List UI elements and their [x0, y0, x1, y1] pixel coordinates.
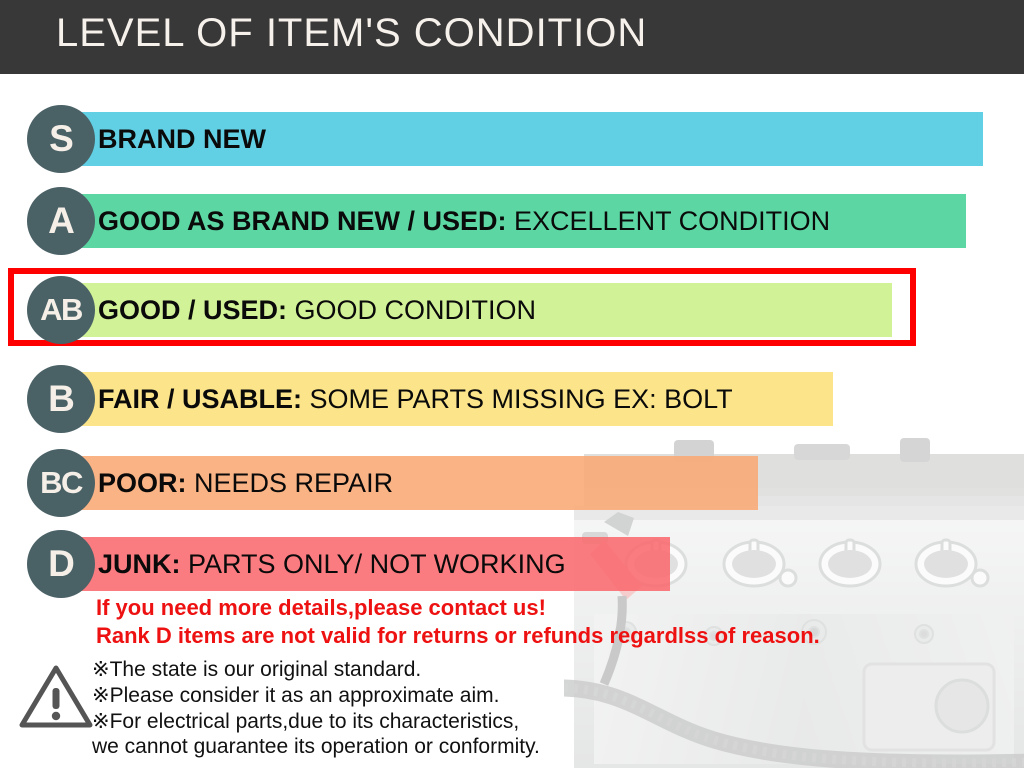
rank-badge-s: S	[27, 105, 95, 173]
rank-badge-a: A	[27, 187, 95, 255]
rank-strong-d: JUNK:	[98, 549, 181, 579]
rank-badge-d: D	[27, 530, 95, 598]
rank-text-bc: POOR: NEEDS REPAIR	[98, 456, 393, 510]
rank-light-ab: GOOD CONDITION	[287, 295, 536, 325]
note-original-standard: ※The state is our original standard.	[92, 657, 421, 682]
note-approximate-aim: ※Please consider it as an approximate ai…	[92, 683, 499, 708]
rank-text-ab: GOOD / USED: GOOD CONDITION	[98, 283, 536, 337]
rank-light-bc: NEEDS REPAIR	[187, 468, 394, 498]
condition-level-infographic: LEVEL OF ITEM'S CONDITION S BRAND NEW A …	[0, 0, 1024, 768]
note-electrical-parts: ※For electrical parts,due to its charact…	[92, 709, 519, 734]
rank-strong-s: BRAND NEW	[98, 124, 266, 154]
rank-strong-bc: POOR:	[98, 468, 187, 498]
rank-strong-ab: GOOD / USED:	[98, 295, 287, 325]
rank-strong-a: GOOD AS BRAND NEW / USED:	[98, 206, 507, 236]
rank-badge-bc: BC	[27, 449, 95, 517]
rank-text-s: BRAND NEW	[98, 112, 266, 166]
rank-badge-ab: AB	[27, 276, 95, 344]
rank-text-d: JUNK: PARTS ONLY/ NOT WORKING	[98, 537, 566, 591]
rank-light-a: EXCELLENT CONDITION	[507, 206, 831, 236]
rank-strong-b: FAIR / USABLE:	[98, 384, 302, 414]
rank-text-b: FAIR / USABLE: SOME PARTS MISSING EX: BO…	[98, 372, 733, 426]
rank-light-d: PARTS ONLY/ NOT WORKING	[181, 549, 566, 579]
page-title: LEVEL OF ITEM'S CONDITION	[56, 11, 647, 56]
warning-triangle-icon	[18, 662, 94, 730]
rank-badge-b: B	[27, 365, 95, 433]
notice-contact-us: If you need more details,please contact …	[96, 595, 546, 621]
note-no-guarantee: we cannot guarantee its operation or con…	[92, 735, 540, 759]
rank-light-b: SOME PARTS MISSING EX: BOLT	[302, 384, 733, 414]
notice-rank-d-no-returns: Rank D items are not valid for returns o…	[96, 623, 820, 649]
rank-text-a: GOOD AS BRAND NEW / USED: EXCELLENT COND…	[98, 194, 830, 248]
